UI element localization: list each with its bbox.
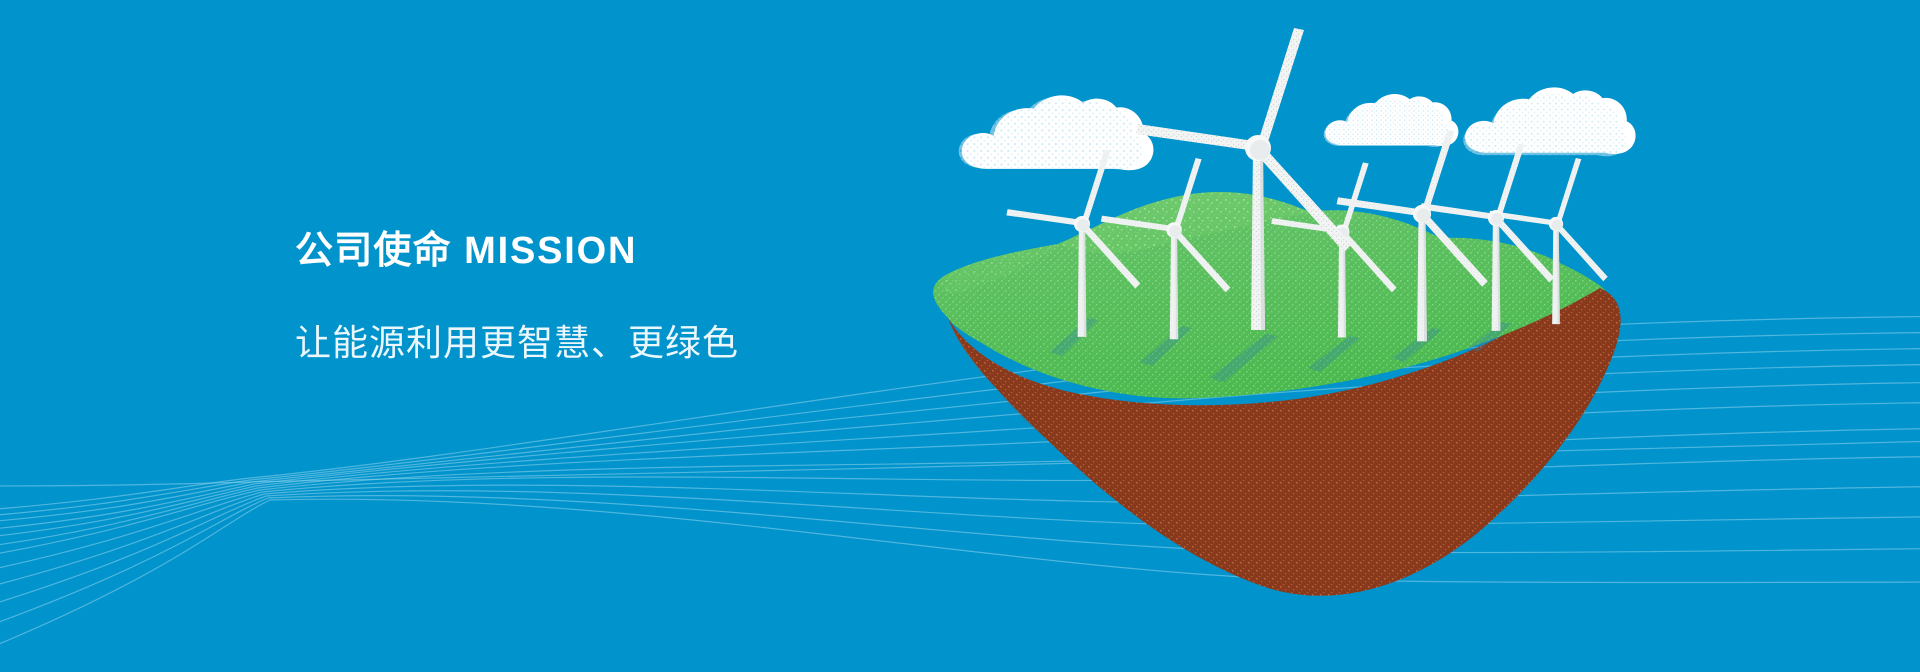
- cloud-left: [959, 95, 1154, 170]
- mission-text-block: 公司使命 MISSION 让能源利用更智慧、更绿色: [295, 228, 739, 365]
- mission-subtitle: 让能源利用更智慧、更绿色: [295, 320, 739, 365]
- island-illustration: [0, 0, 1920, 672]
- cloud-right: [1463, 87, 1635, 156]
- mission-banner: 公司使命 MISSION 让能源利用更智慧、更绿色: [0, 0, 1920, 672]
- headline-english: MISSION: [464, 230, 637, 272]
- headline-chinese: 公司使命: [295, 230, 452, 272]
- cloud-middle: [1324, 94, 1459, 147]
- page-title: 公司使命 MISSION: [295, 228, 739, 276]
